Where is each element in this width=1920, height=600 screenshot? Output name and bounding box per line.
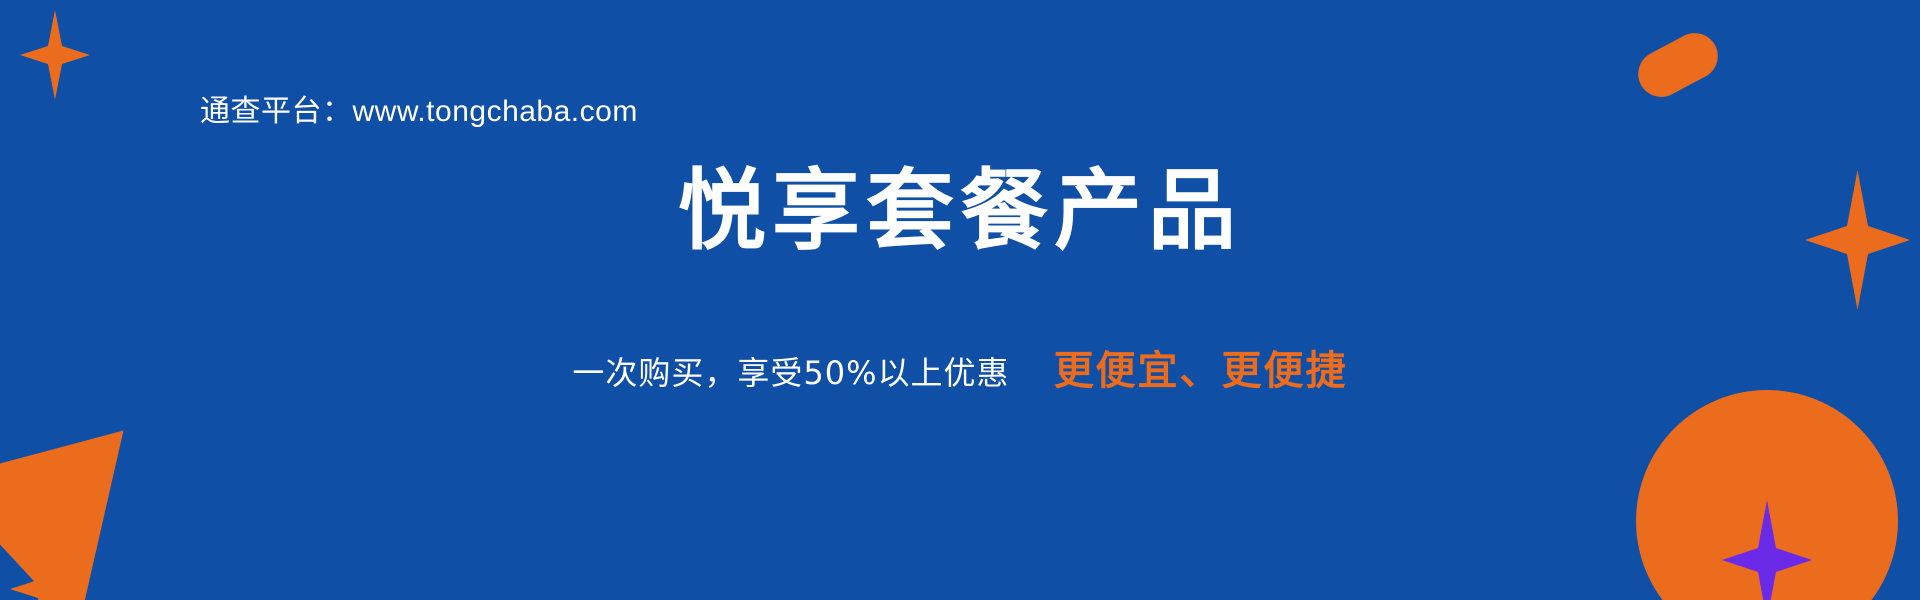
banner-content: 通查平台：www.tongchaba.com 悦享套餐产品 一次购买，享受50%…: [0, 0, 1920, 600]
subtitle-offer-text: 一次购买，享受50%以上优惠: [572, 348, 1009, 394]
subtitle-row: 一次购买，享受50%以上优惠 更便宜、更便捷: [0, 338, 1920, 396]
page-title: 悦享套餐产品: [0, 160, 1920, 261]
platform-label: 通查平台：: [200, 94, 353, 129]
subtitle-highlight-text: 更便宜、更便捷: [1054, 338, 1348, 396]
promo-banner: 通查平台：www.tongchaba.com 悦享套餐产品 一次购买，享受50%…: [0, 0, 1920, 600]
platform-url[interactable]: www.tongchaba.com: [353, 95, 638, 128]
platform-line: 通查平台：www.tongchaba.com: [200, 86, 638, 130]
